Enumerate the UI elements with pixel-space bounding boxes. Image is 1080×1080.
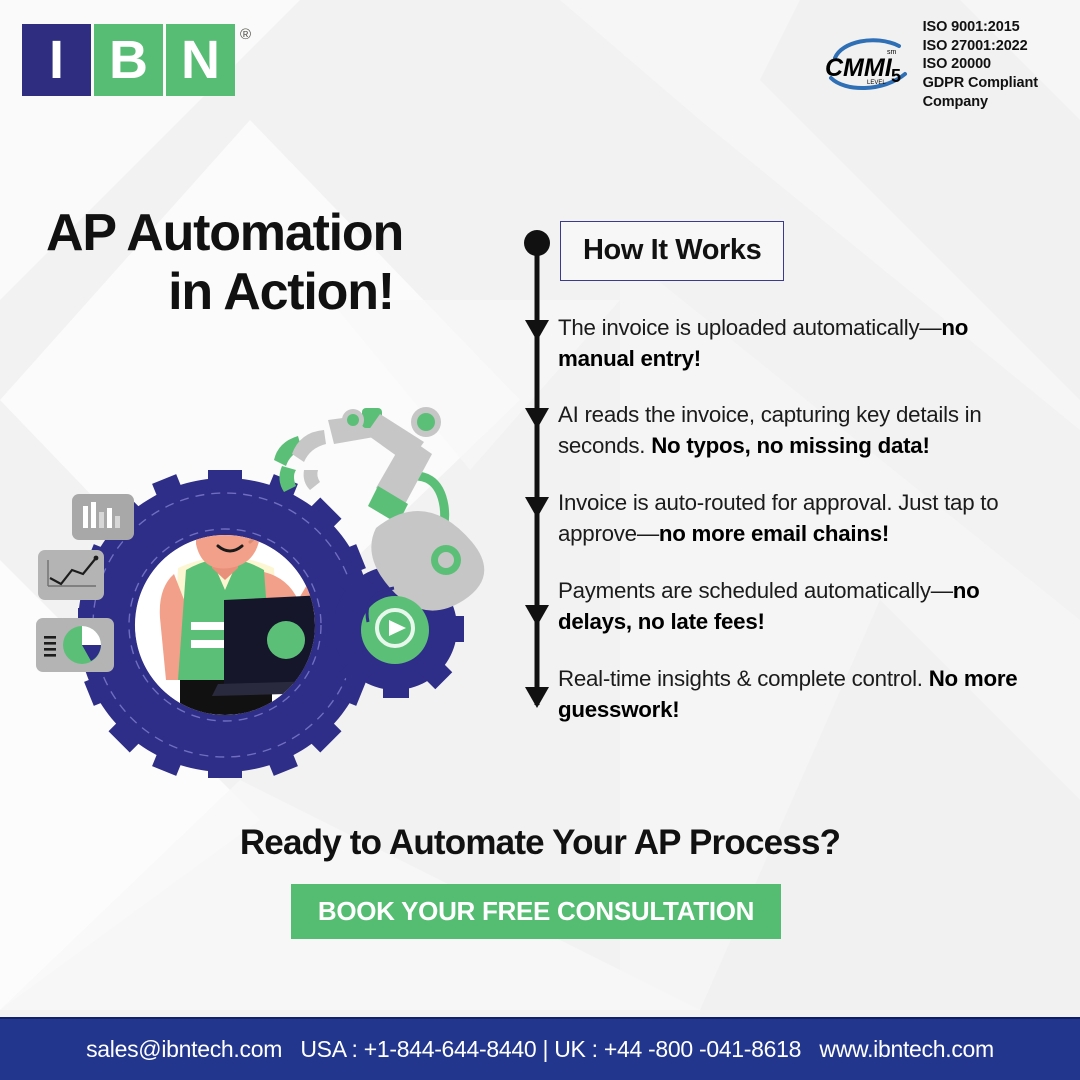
step-3-emphasis: no more email chains! <box>659 521 889 546</box>
page-title: AP Automation in Action! <box>46 204 516 322</box>
svg-text:sm: sm <box>887 49 897 56</box>
footer-bar: sales@ibntech.com USA : +1-844-644-8440 … <box>0 1017 1080 1080</box>
step-item-3: Invoice is auto-routed for approval. Jus… <box>558 487 1028 550</box>
step-4-text: Payments are scheduled automatically— <box>558 578 953 603</box>
footer-gap-1 <box>282 1036 300 1063</box>
pie-chart-card <box>36 618 114 672</box>
logo-letter-i: I <box>22 24 91 96</box>
step-5-text: Real-time insights & complete control. <box>558 666 929 691</box>
footer-contact-group: sales@ibntech.com USA : +1-844-644-8440 … <box>86 1036 994 1063</box>
line-chart-card <box>38 550 104 600</box>
certification-line-2: ISO 27001:2022 <box>923 37 1038 56</box>
step-1-text: The invoice is uploaded automatically— <box>558 315 941 340</box>
cmmi-level5-icon: CMMI 5 LEVEL sm <box>823 28 915 102</box>
step-item-4: Payments are scheduled automatically—no … <box>558 575 1028 638</box>
footer-usa-phone[interactable]: USA : +1-844-644-8440 <box>300 1036 536 1063</box>
footer-uk-phone[interactable]: UK : +44 -800 -041-8618 <box>554 1036 801 1063</box>
step-2-emphasis: No typos, no missing data! <box>651 433 929 458</box>
step-item-5: Real-time insights & complete control. N… <box>558 663 1028 726</box>
logo-letter-b: B <box>94 24 163 96</box>
bar-chart-card <box>72 494 134 540</box>
step-item-2: AI reads the invoice, capturing key deta… <box>558 399 1028 462</box>
how-it-works-steps: The invoice is uploaded automatically—no… <box>558 312 1028 749</box>
certification-badge-group: CMMI 5 LEVEL sm ISO 9001:2015 ISO 27001:… <box>823 18 1038 112</box>
footer-website[interactable]: www.ibntech.com <box>819 1036 993 1063</box>
footer-gap-2 <box>801 1036 819 1063</box>
certification-line-4: GDPR Compliant <box>923 74 1038 93</box>
book-consultation-button[interactable]: BOOK YOUR FREE CONSULTATION <box>291 884 781 939</box>
certification-line-3: ISO 20000 <box>923 55 1038 74</box>
registered-trademark-icon: ® <box>240 26 251 43</box>
step-item-1: The invoice is uploaded automatically—no… <box>558 312 1028 375</box>
svg-text:CMMI: CMMI <box>825 54 893 82</box>
certification-line-1: ISO 9001:2015 <box>923 18 1038 37</box>
logo-letter-n: N <box>166 24 235 96</box>
svg-text:5: 5 <box>891 66 901 86</box>
headline-line-2: in Action! <box>46 263 516 322</box>
cta-question: Ready to Automate Your AP Process? <box>0 823 1080 863</box>
page-header: I B N ® CMMI 5 LEVEL sm ISO 9001:2015 IS… <box>0 0 1080 120</box>
certification-text-list: ISO 9001:2015 ISO 27001:2022 ISO 20000 G… <box>923 18 1038 112</box>
certification-line-5: Company <box>923 93 1038 112</box>
svg-text:LEVEL: LEVEL <box>867 80 886 86</box>
ibn-logo: I B N ® <box>22 24 251 96</box>
how-it-works-label: How It Works <box>560 221 784 281</box>
ap-automation-illustration <box>28 378 508 778</box>
footer-separator: | <box>536 1036 554 1063</box>
headline-line-1: AP Automation <box>46 204 403 262</box>
footer-email[interactable]: sales@ibntech.com <box>86 1036 282 1063</box>
